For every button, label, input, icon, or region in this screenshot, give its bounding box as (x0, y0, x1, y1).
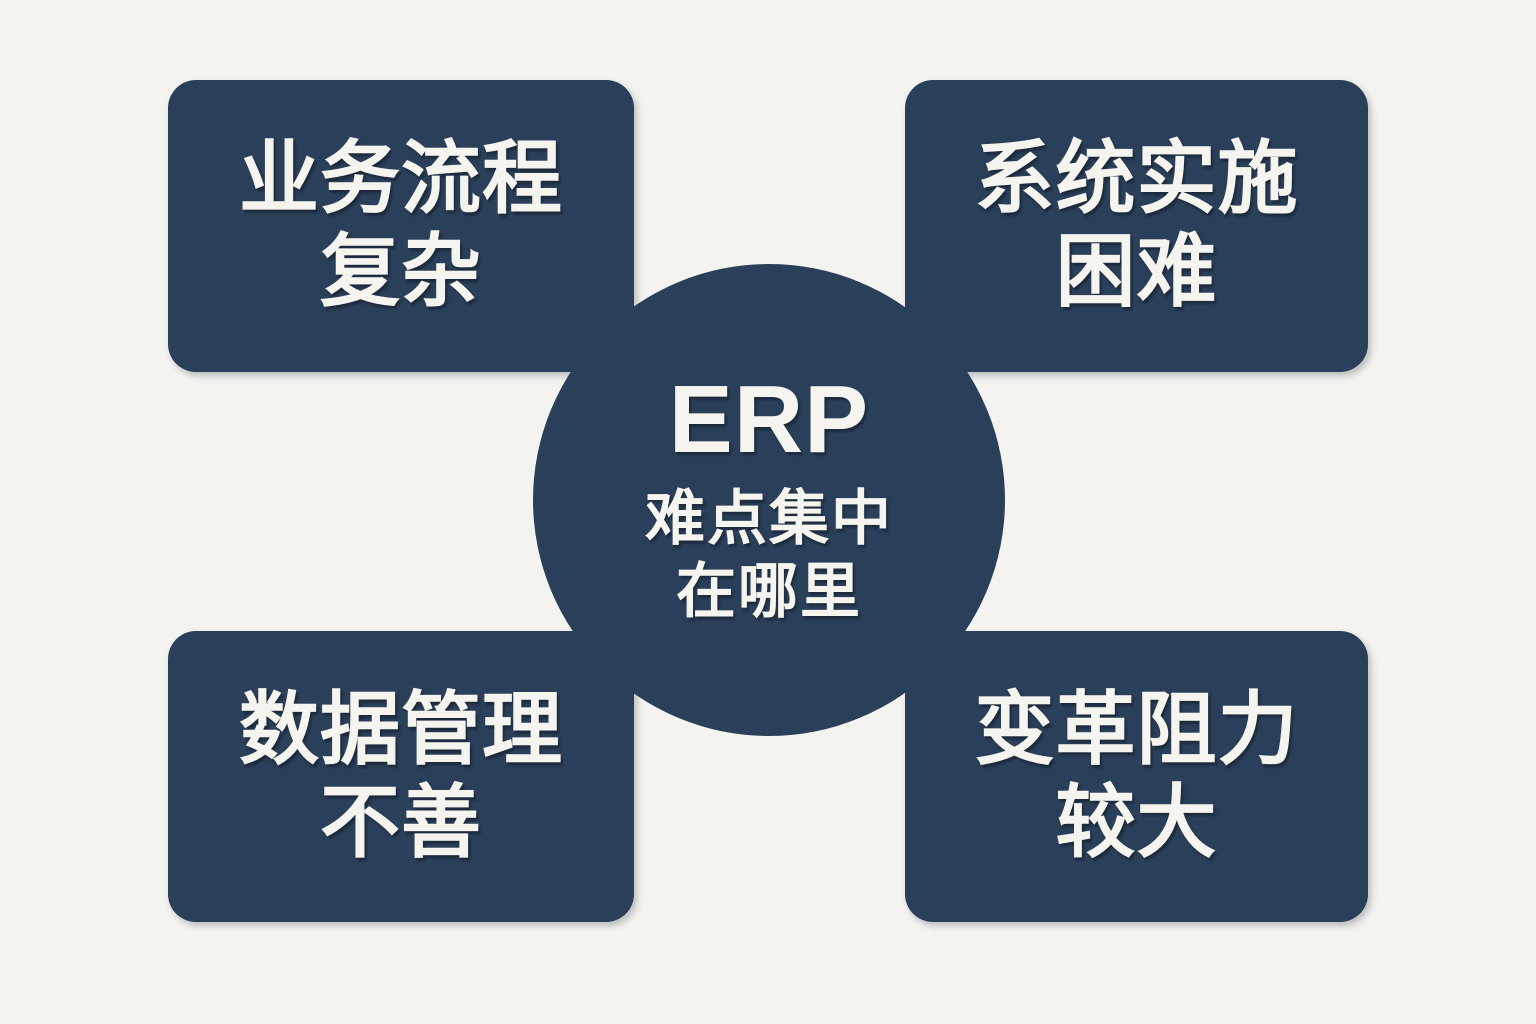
diagram-canvas: 业务流程 复杂 系统实施 困难 数据管理 不善 变革阻力 较大 ERP 难点集中… (0, 0, 1536, 1024)
node-box-business-process[interactable]: 业务流程 复杂 (168, 80, 634, 372)
center-hub-line2: 在哪里 (676, 555, 862, 628)
node-label-line2: 复杂 (320, 226, 482, 319)
node-box-change-resistance[interactable]: 变革阻力 较大 (905, 631, 1368, 922)
center-hub-circle[interactable]: ERP 难点集中 在哪里 (533, 264, 1005, 736)
node-label-line2: 较大 (1056, 777, 1218, 870)
node-label-line1: 业务流程 (239, 133, 563, 226)
center-hub-line1: 难点集中 (645, 482, 893, 555)
node-label-line1: 变革阻力 (975, 684, 1299, 777)
node-label-line1: 数据管理 (239, 684, 563, 777)
node-label-line2: 困难 (1056, 226, 1218, 319)
center-hub-title: ERP (669, 372, 869, 468)
node-box-system-implementation[interactable]: 系统实施 困难 (905, 80, 1368, 372)
node-box-data-management[interactable]: 数据管理 不善 (168, 631, 634, 922)
node-label-line1: 系统实施 (975, 133, 1299, 226)
node-label-line2: 不善 (320, 777, 482, 870)
